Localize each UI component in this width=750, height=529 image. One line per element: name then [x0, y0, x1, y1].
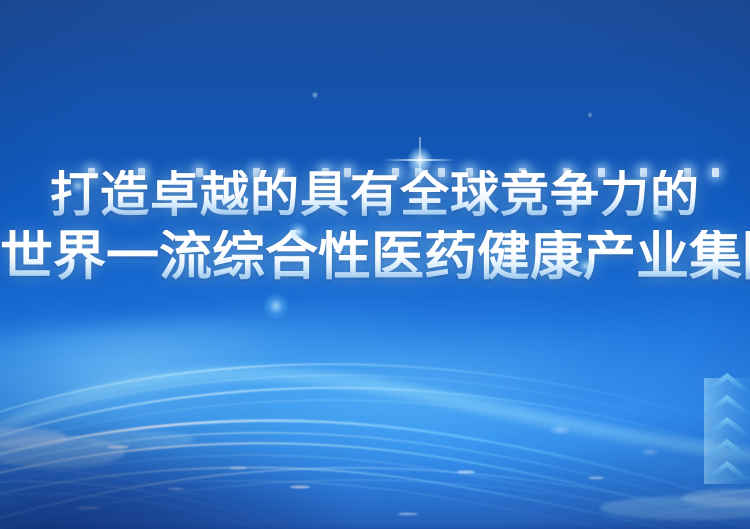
deep-navy-shadow-right	[390, 434, 750, 529]
headline-line-2: 世界一流综合性医药健康产业集团	[0, 230, 750, 283]
headline-block: 打造卓越的具有全球竞争力的 世界一流综合性医药健康产业集团	[0, 170, 750, 283]
corporate-vision-banner: 打造卓越的具有全球竞争力的 世界一流综合性医药健康产业集团	[0, 0, 750, 529]
headline-line-1: 打造卓越的具有全球竞争力的	[0, 170, 750, 219]
